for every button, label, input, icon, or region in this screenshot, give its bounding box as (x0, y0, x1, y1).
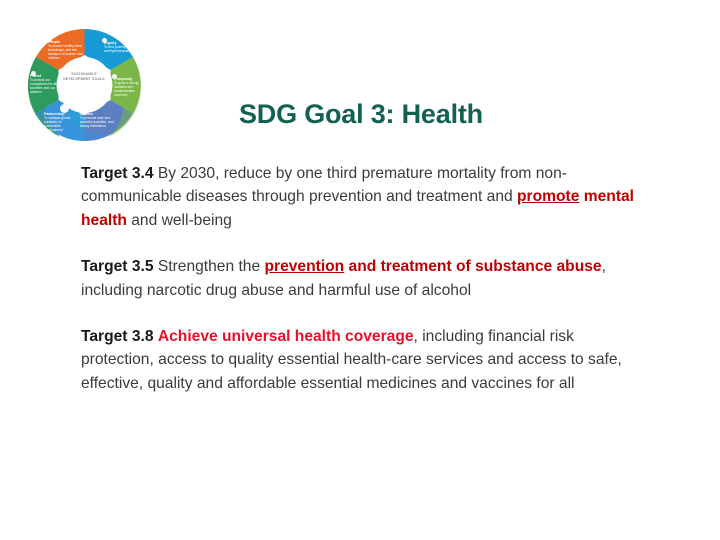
slide-canvas: SUSTAINABLE DEVELOPMENT GOALS People To … (0, 0, 720, 540)
target-3-4-seg-4: and well-being (127, 212, 232, 229)
partnership-icon (60, 104, 69, 113)
segment-label-prosperity: Prosperity To grow a strong, inclusive a… (114, 77, 142, 97)
segment-text-dignity: To end poverty and fight inequality (104, 45, 132, 53)
target-3-5-seg-2: and treatment of substance abuse (344, 258, 601, 275)
logo-center-label: SUSTAINABLE DEVELOPMENT GOALS (60, 72, 108, 81)
segment-text-prosperity: To grow a strong, inclusive and transfor… (114, 81, 139, 97)
target-3-4-paragraph: Target 3.4 By 2030, reduce by one third … (81, 162, 641, 232)
target-3-5-label: Target 3.5 (81, 258, 154, 275)
targets-list: Target 3.4 By 2030, reduce by one third … (81, 162, 641, 395)
segment-text-planet: To protect our ecosystems for all societ… (30, 78, 56, 94)
segment-label-people: People To ensure healthy lives, knowledg… (48, 40, 90, 60)
segment-label-dignity: Dignity To end poverty and fight inequal… (104, 41, 132, 53)
target-3-4-seg-0: By 2030, reduce by one third premature m… (81, 165, 567, 205)
segment-label-planet: Planet To protect our ecosystems for all… (30, 74, 58, 94)
dignity-icon (102, 38, 107, 43)
target-3-8-paragraph: Target 3.8 Achieve universal health cove… (81, 325, 641, 395)
segment-text-partnership: To catalyse global solidarity for sustai… (44, 116, 70, 132)
sdg-wheel-logo: SUSTAINABLE DEVELOPMENT GOALS People To … (22, 24, 147, 146)
justice-icon (79, 109, 84, 114)
people-icon (47, 37, 52, 42)
segment-text-people: To ensure healthy lives, knowledge, and … (48, 44, 82, 60)
target-3-4-label: Target 3.4 (81, 165, 154, 182)
page-title: SDG Goal 3: Health (239, 99, 483, 130)
target-3-5-seg-1: prevention (264, 258, 344, 275)
planet-icon (31, 71, 36, 76)
target-3-5-seg-0: Strengthen the (154, 258, 265, 275)
segment-label-partnership: Partnership To catalyse global solidarit… (44, 112, 78, 132)
segment-label-justice: Justice To promote safe and peaceful soc… (80, 112, 122, 128)
target-3-5-paragraph: Target 3.5 Strengthen the prevention and… (81, 255, 641, 302)
target-3-8-seg-1: Achieve universal health coverage (158, 328, 414, 345)
target-3-4-seg-1: promote (517, 188, 579, 205)
segment-text-justice: To promote safe and peaceful societies, … (80, 116, 114, 128)
prosperity-icon (112, 74, 117, 79)
target-3-8-label: Target 3.8 (81, 328, 154, 345)
